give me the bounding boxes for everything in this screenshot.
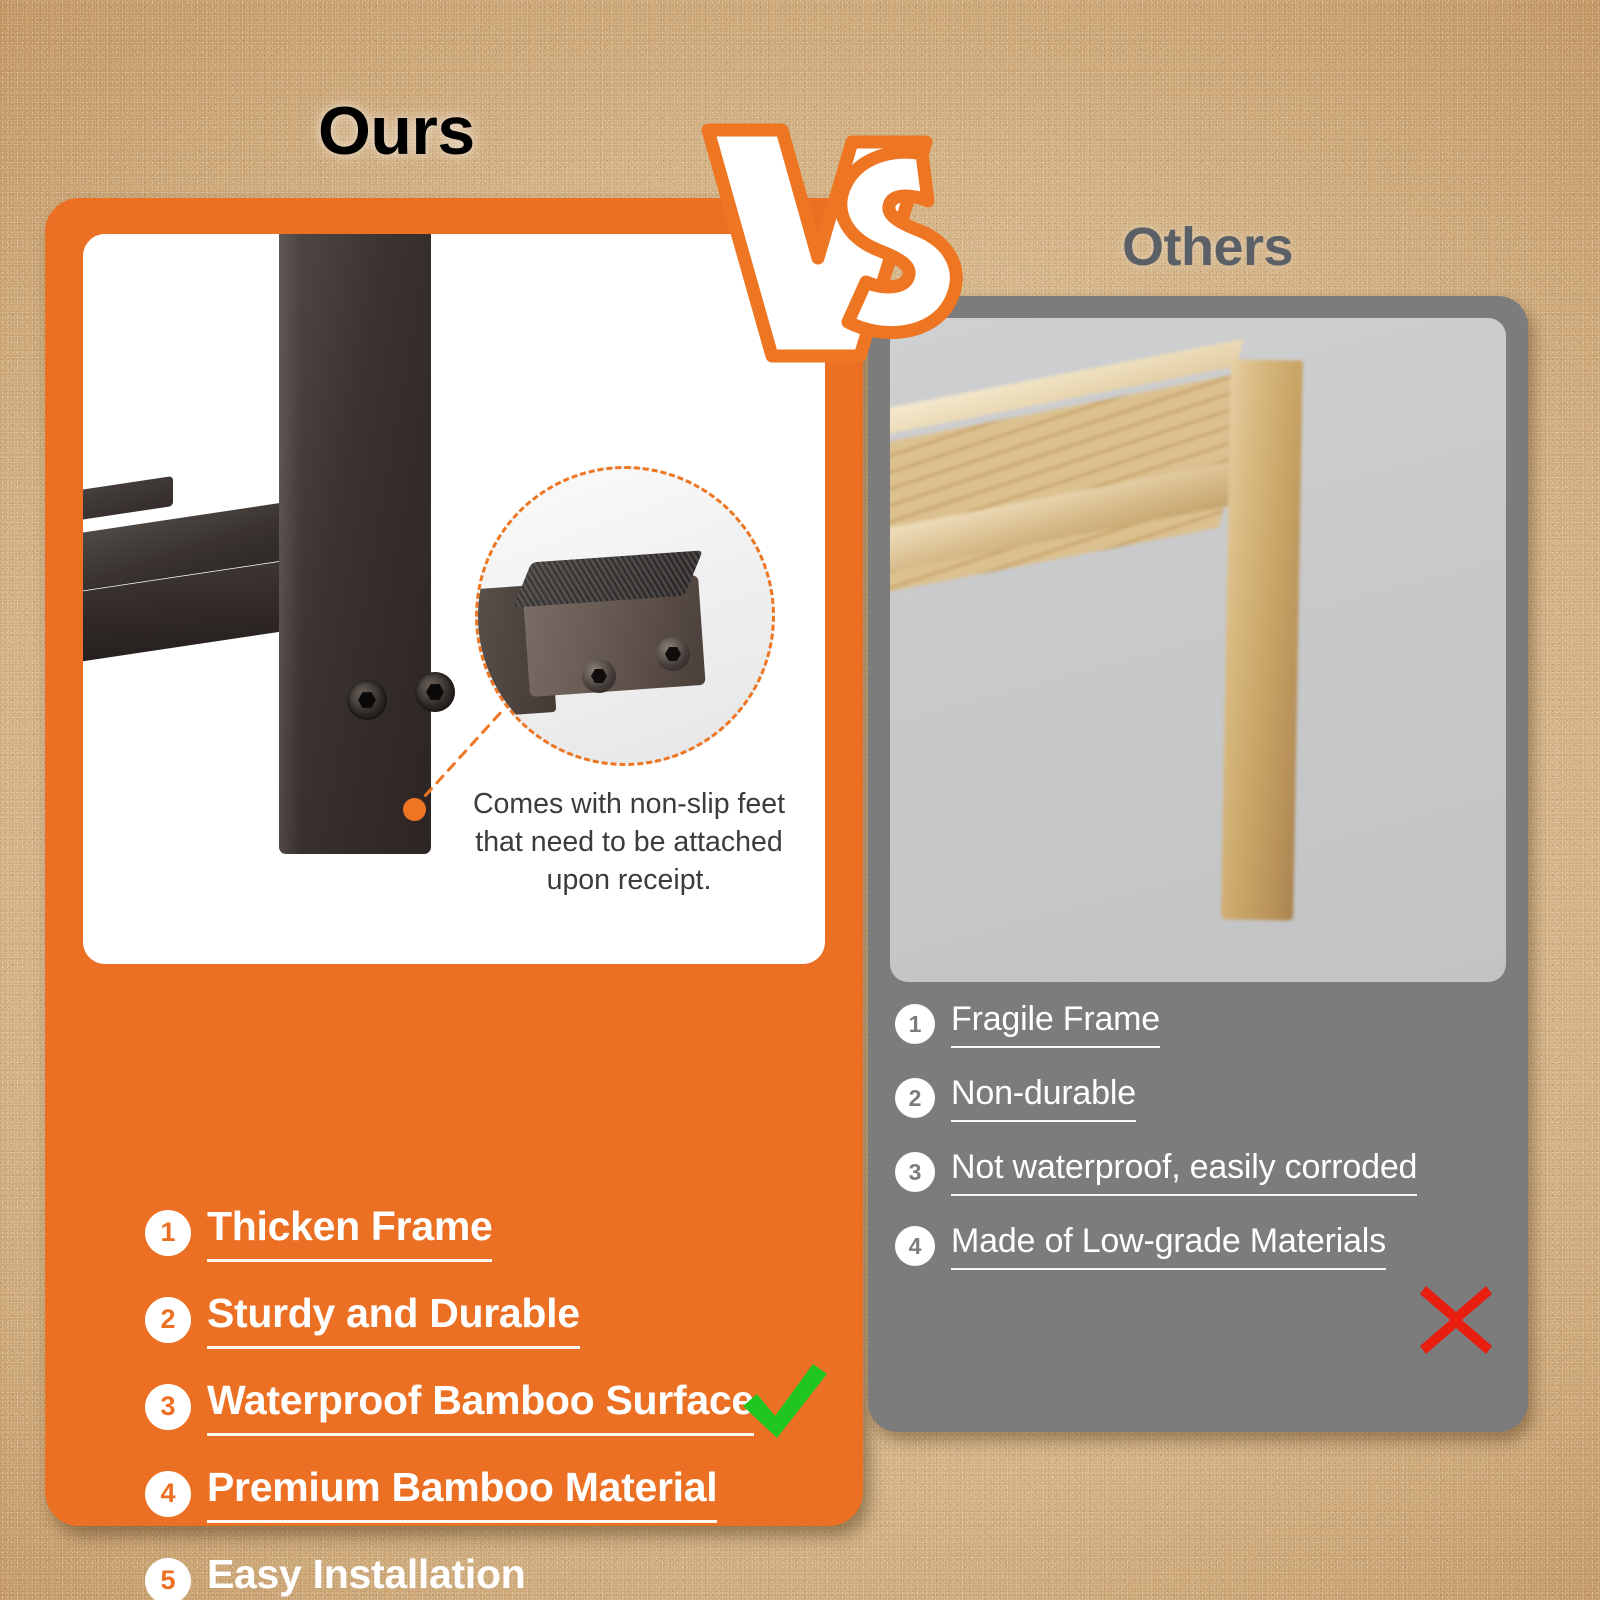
non-slip-feet-caption: Comes with non-slip feet that need to be…: [451, 786, 807, 900]
number-badge: 4: [895, 1226, 935, 1266]
feature-label: Fragile Frame: [951, 1000, 1160, 1048]
feature-label: Premium Bamboo Material: [207, 1464, 717, 1523]
others-feature-list: 1 Fragile Frame 2 Non-durable 3 Not wate…: [895, 1000, 1505, 1296]
number-badge: 1: [895, 1004, 935, 1044]
list-item: 3 Not waterproof, easily corroded: [895, 1148, 1505, 1196]
ours-panel: Comes with non-slip feet that need to be…: [45, 198, 863, 1526]
others-product-photo: [890, 318, 1506, 982]
list-item: 1 Thicken Frame: [145, 1203, 845, 1262]
feature-label: Sturdy and Durable: [207, 1290, 580, 1349]
ours-title: Ours: [318, 92, 475, 170]
list-item: 2 Non-durable: [895, 1074, 1505, 1122]
number-badge: 3: [895, 1152, 935, 1192]
list-item: 1 Fragile Frame: [895, 1000, 1505, 1048]
list-item: 4 Made of Low-grade Materials: [895, 1222, 1505, 1270]
metal-leg-shape: [279, 234, 431, 854]
feature-label: Thicken Frame: [207, 1203, 492, 1262]
screw-icon: [656, 637, 690, 671]
feature-label: Not waterproof, easily corroded: [951, 1148, 1417, 1196]
magnifier-callout: [475, 466, 775, 766]
vs-badge-icon: [700, 108, 1000, 368]
feature-label: Non-durable: [951, 1074, 1136, 1122]
comparison-infographic: Ours Others Comes with non-slip feet: [0, 0, 1600, 1600]
cross-icon: [1418, 1282, 1494, 1358]
number-badge: 4: [145, 1471, 191, 1517]
feature-label: Waterproof Bamboo Surface: [207, 1377, 754, 1436]
list-item: 5 Easy Installation: [145, 1551, 845, 1600]
screw-icon: [582, 659, 616, 693]
screw-icon: [415, 672, 455, 712]
bamboo-leg-shape: [1221, 359, 1303, 920]
number-badge: 2: [145, 1297, 191, 1343]
check-icon: [737, 1358, 829, 1444]
others-title: Others: [1122, 216, 1293, 278]
screw-icon: [347, 680, 387, 720]
leader-dot-icon: [403, 798, 426, 821]
number-badge: 3: [145, 1384, 191, 1430]
number-badge: 5: [145, 1558, 191, 1600]
number-badge: 1: [145, 1210, 191, 1256]
number-badge: 2: [895, 1078, 935, 1118]
list-item: 2 Sturdy and Durable: [145, 1290, 845, 1349]
feature-label: Easy Installation: [207, 1551, 525, 1600]
feature-label: Made of Low-grade Materials: [951, 1222, 1386, 1270]
list-item: 4 Premium Bamboo Material: [145, 1464, 845, 1523]
